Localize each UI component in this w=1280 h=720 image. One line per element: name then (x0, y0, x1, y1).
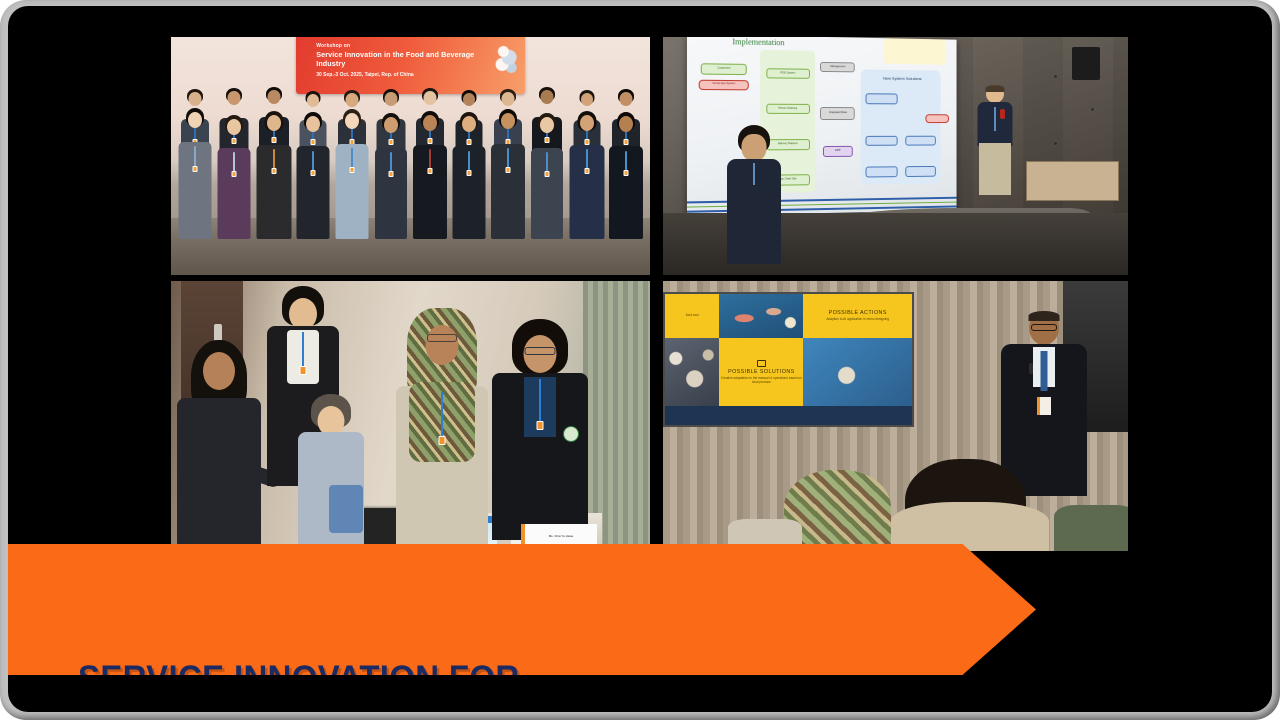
slide-image-food (665, 338, 719, 406)
flow-node-customers: Customers (701, 63, 746, 74)
slide-frame: Workshop on Service Innovation in the Fo… (0, 0, 1280, 720)
ceiling-speaker-icon (1072, 47, 1100, 80)
backdrop-line1: Workshop on (316, 43, 488, 49)
flow-node-management: Management (820, 62, 855, 73)
presenter-badge (1037, 397, 1051, 415)
side-table (1026, 161, 1119, 201)
backdrop-line3: 30 Sep.-3 Oct. 2025, Taipei, Rep. of Chi… (316, 72, 488, 78)
slide-image-restaurant (803, 338, 912, 406)
photo-grid: Workshop on Service Innovation in the Fo… (171, 37, 1128, 551)
flow-node-integrated-data: Integrated Data (820, 107, 855, 119)
title-banner: SERVICE INNOVATION FOR THE FOOD AND BEVE… (8, 544, 1036, 675)
photo-speaker-audience[interactable]: food cost POSSIBLE ACTIONS Adaption to A… (663, 281, 1128, 551)
slide-title: Implementation (732, 37, 784, 47)
person-blazer-glasses (492, 319, 588, 551)
title-line-1: SERVICE INNOVATION FOR (78, 656, 708, 702)
flow-node-pos-system: POS System (766, 68, 810, 79)
presentation-board-icon (757, 360, 766, 367)
slide-image-ingredients (719, 294, 803, 339)
person-speaker (970, 85, 1021, 218)
backdrop-line2: Service Innovation in the Food and Bever… (316, 50, 488, 68)
slide-panel-possible-solutions: POSSIBLE SOLUTIONS Creative adaptation t… (719, 338, 803, 406)
photo-group-photo[interactable]: Workshop on Service Innovation in the Fo… (171, 37, 650, 275)
people-row-front (176, 104, 645, 242)
flow-group-blue-title: New System Solutions (874, 73, 931, 86)
slide-title-text: SERVICE INNOVATION FOR THE FOOD AND BEVE… (78, 564, 708, 712)
projector-screen-2: food cost POSSIBLE ACTIONS Adaption to A… (663, 292, 914, 427)
flow-group-yellow (884, 38, 946, 65)
person-listener (714, 125, 793, 275)
audience-chair-right (1054, 505, 1128, 551)
flow-node-phone-ordering: Phone Ordering (766, 104, 810, 115)
lapel-pin-icon (563, 426, 579, 442)
slide-panel-food-cost: food cost (665, 294, 719, 339)
photo-workshop-group-laptop[interactable]: Ms. Chia Yu Hsiao (171, 281, 650, 551)
backdrop-logo-icon (493, 42, 519, 76)
person-pointing (171, 340, 272, 551)
flow-node-group-app: Group App System (698, 80, 749, 90)
photo-presentation-flowchart[interactable]: Implementation Customers Group App Syste… (663, 37, 1128, 275)
microphone-icon-2 (1029, 363, 1033, 374)
slide-footer-band (665, 406, 912, 424)
window-curtain (583, 281, 650, 551)
flow-node-erp: ERP (823, 146, 852, 157)
person-green-scarf (391, 308, 492, 551)
slide-panel-possible-actions: POSSIBLE ACTIONS Adaption to AI applicat… (803, 294, 912, 339)
audience-member-shawl (891, 502, 1049, 551)
microphone-icon (1000, 109, 1005, 119)
person-seated (296, 394, 368, 551)
slide-canvas: Workshop on Service Innovation in the Fo… (8, 6, 1272, 712)
